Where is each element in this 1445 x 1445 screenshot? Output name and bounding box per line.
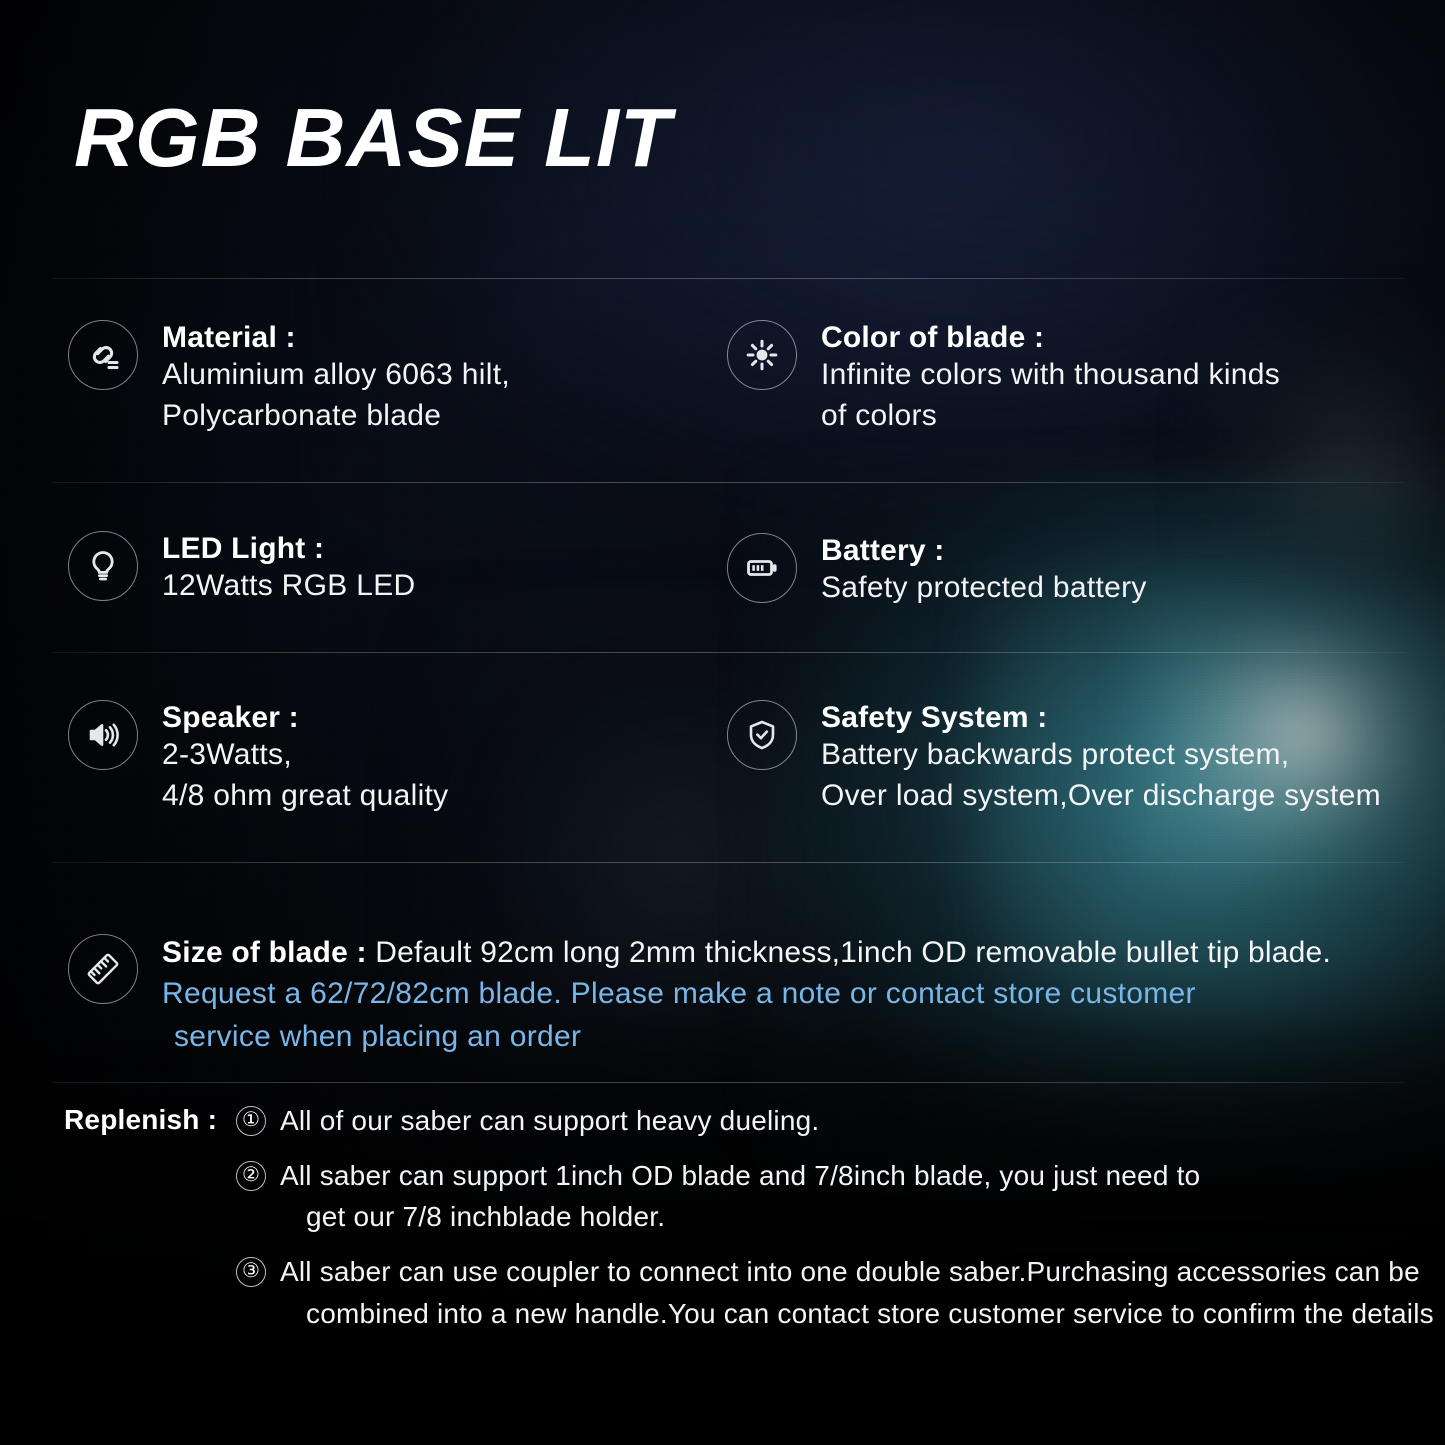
chain-link-icon — [68, 320, 138, 390]
page-title: RGB BASE LIT — [74, 96, 672, 179]
spec-item-battery: Battery : Safety protected battery — [727, 533, 1147, 609]
list-item: ② All saber can support 1inch OD blade a… — [236, 1155, 1424, 1237]
list-item: ① All of our saber can support heavy due… — [236, 1100, 1424, 1141]
spec-value-line: of colors — [821, 396, 1280, 437]
spec-label: Speaker : — [162, 700, 448, 735]
spec-label: Material : — [162, 320, 510, 355]
infographic-canvas: RGB BASE LIT Material : Aluminium alloy … — [0, 0, 1445, 1445]
spec-value-line: Safety protected battery — [821, 568, 1147, 609]
spec-item-material: Material : Aluminium alloy 6063 hilt, Po… — [68, 320, 510, 437]
divider-2 — [52, 482, 1405, 483]
spec-value-line: 2-3Watts, — [162, 735, 448, 776]
spec-label: Safety System : — [821, 700, 1381, 735]
size-of-blade-note-line-2: service when placing an order — [162, 1015, 1331, 1059]
divider-1 — [52, 278, 1405, 279]
divider-4 — [52, 862, 1405, 863]
replenish-text-line: All saber can support 1inch OD blade and… — [280, 1155, 1200, 1196]
list-item: ③ All saber can use coupler to connect i… — [236, 1251, 1424, 1333]
spec-item-color-of-blade: Color of blade : Infinite colors with th… — [727, 320, 1280, 437]
speaker-icon — [68, 700, 138, 770]
lightbulb-icon — [68, 531, 138, 601]
size-of-blade-description: Default 92cm long 2mm thickness,1inch OD… — [375, 936, 1331, 969]
spec-value-line: 12Watts RGB LED — [162, 566, 415, 607]
spec-value-line: Infinite colors with thousand kinds — [821, 355, 1280, 396]
ruler-icon — [68, 934, 138, 1004]
replenish-section: Replenish : ① All of our saber can suppo… — [64, 1100, 1424, 1348]
replenish-text-line: combined into a new handle.You can conta… — [280, 1293, 1434, 1334]
spec-item-safety-system: Safety System : Battery backwards protec… — [727, 700, 1381, 817]
spec-item-speaker: Speaker : 2-3Watts, 4/8 ohm great qualit… — [68, 700, 448, 817]
size-of-blade-note-line-1: Request a 62/72/82cm blade. Please make … — [162, 972, 1331, 1016]
spec-value-line: Over load system,Over discharge system — [821, 776, 1381, 817]
shield-check-icon — [727, 700, 797, 770]
replenish-text-line: All of our saber can support heavy dueli… — [280, 1100, 819, 1141]
replenish-text-line: All saber can use coupler to connect int… — [280, 1251, 1434, 1292]
divider-5 — [52, 1082, 1405, 1083]
circled-number-3: ③ — [236, 1257, 266, 1287]
circled-number-2: ② — [236, 1161, 266, 1191]
replenish-label: Replenish : — [64, 1104, 217, 1136]
spec-label: LED Light : — [162, 531, 415, 566]
size-of-blade-label: Size of blade : — [162, 936, 367, 969]
spec-item-led-light: LED Light : 12Watts RGB LED — [68, 531, 415, 607]
spec-value-line: Polycarbonate blade — [162, 396, 510, 437]
divider-3 — [52, 652, 1405, 653]
brightness-sun-icon — [727, 320, 797, 390]
spec-label: Battery : — [821, 533, 1147, 568]
battery-icon — [727, 533, 797, 603]
size-of-blade-main: Size of blade : Default 92cm long 2mm th… — [162, 934, 1331, 972]
spec-value-line: 4/8 ohm great quality — [162, 776, 448, 817]
replenish-list: ① All of our saber can support heavy due… — [236, 1100, 1424, 1334]
replenish-text-line: get our 7/8 inchblade holder. — [280, 1196, 1200, 1237]
spec-value-line: Aluminium alloy 6063 hilt, — [162, 355, 510, 396]
circled-number-1: ① — [236, 1106, 266, 1136]
spec-item-size-of-blade: Size of blade : Default 92cm long 2mm th… — [68, 934, 1331, 1059]
spec-label: Color of blade : — [821, 320, 1280, 355]
spec-value-line: Battery backwards protect system, — [821, 735, 1381, 776]
